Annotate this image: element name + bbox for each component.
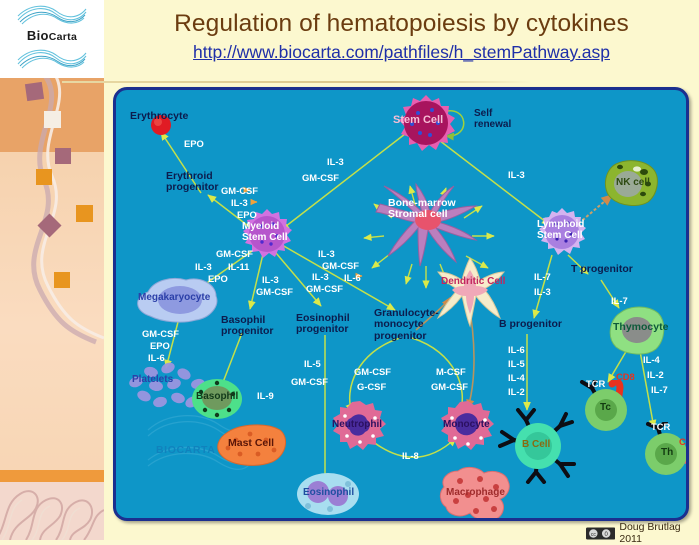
- sidebar-square-5: [76, 205, 93, 222]
- cytokine-gmcsf-monocyte: GM-CSF: [431, 381, 468, 393]
- cytokine-gmcsf-eosinophil: GM-CSF: [306, 283, 343, 295]
- label-th-cell: Th: [661, 448, 673, 459]
- label-erythroid-progenitor: Erythroidprogenitor: [166, 171, 219, 194]
- label-b-cell: B Cell: [522, 440, 550, 451]
- header: Regulation of hematopoiesis by cytokines…: [104, 0, 699, 82]
- logo-text-bio: Bio: [27, 28, 49, 43]
- label-platelets: Platelets: [132, 375, 173, 386]
- label-erythrocyte: Erythrocyte: [130, 111, 188, 122]
- label-self-renewal: Selfrenewal: [474, 109, 511, 131]
- label-eosinophil: Eosinophil: [303, 488, 354, 499]
- cytokine-il6-gmp: IL-6: [344, 272, 361, 284]
- cytokine-il3-megakaryocyte: IL-3: [195, 261, 212, 273]
- cytokine-il8: IL-8: [402, 450, 419, 462]
- cytokine-il3-basophil: IL-3: [262, 274, 279, 286]
- label-basophil-progenitor: Basophilprogenitor: [221, 315, 274, 338]
- label-lymphoid-stem-cell: LymphoidStem Cell: [537, 220, 584, 242]
- sidebar-square-1: [25, 82, 44, 101]
- cytokine-il3-stem-lymphoid: IL-3: [508, 169, 525, 181]
- sidebar-square-7: [54, 272, 70, 288]
- dendritic-cell-icon: [436, 256, 508, 328]
- label-t-progenitor: T progenitor: [571, 264, 633, 275]
- cytokine-il2-bcell: IL-2: [508, 386, 525, 398]
- cytokine-gmcsf-neutrophil: GM-CSF: [354, 366, 391, 378]
- label-nk-cell: NK cell: [616, 178, 650, 189]
- label-thymocyte: Thymocyte: [613, 322, 668, 333]
- label-neutrophil: Neutrophil: [332, 420, 382, 431]
- cytokine-gmcsf-eosinophil-out: GM-CSF: [291, 376, 328, 388]
- cytokine-il5-eosinophil-out: IL-5: [304, 358, 321, 370]
- sidebar-square-4: [36, 169, 52, 185]
- label-eosinophil-progenitor: Eosinophilprogenitor: [296, 313, 350, 336]
- biocarta-wave-top-icon: [16, 4, 88, 26]
- label-granulocyte-monocyte-progenitor: Granulocyte-monocyteprogenitor: [374, 308, 439, 342]
- cytokine-il2-tcell: IL-2: [647, 369, 664, 381]
- label-monocyte: Monocyte: [443, 420, 490, 431]
- cytokine-il3-bprog: IL-3: [534, 286, 551, 298]
- cytokine-il7-bprog: IL-7: [534, 271, 551, 283]
- cytokine-epo-erythroid: EPO: [237, 209, 257, 221]
- page-title: Regulation of hematopoiesis by cytokines: [104, 10, 699, 38]
- source-url-link[interactable]: http://www.biocarta.com/pathfiles/h_stem…: [104, 42, 699, 63]
- cytokine-il6-bcell: IL-6: [508, 344, 525, 356]
- cytokine-il4-tcell: IL-4: [643, 354, 660, 366]
- cytokine-il11-megakaryocyte: IL-11: [228, 261, 249, 273]
- cytokine-gmcsf-platelets: GM-CSF: [142, 328, 179, 340]
- cytokine-gmcsf-stem-myeloid: GM-CSF: [302, 172, 339, 184]
- cytokine-il7-thymocyte: IL-7: [611, 295, 628, 307]
- dendritic-cell-shape: [436, 256, 508, 328]
- cytokine-il4-bcell: IL-4: [508, 372, 525, 384]
- sidebar-band-rule: [0, 470, 104, 482]
- cytokine-il7-tcell: IL-7: [651, 384, 668, 396]
- label-dendritic-cell: Dendritic Cell: [441, 277, 505, 288]
- cytokine-il3-gmp: IL-3: [318, 248, 335, 260]
- sidebar-square-3: [55, 148, 71, 164]
- cytokine-gmcsf-megakaryocyte: GM-CSF: [216, 248, 253, 260]
- cytokine-gmcsf-erythroid: GM-CSF: [221, 185, 258, 197]
- header-divider: [62, 81, 532, 83]
- cytokine-il5-bcell: IL-5: [508, 358, 525, 370]
- biocarta-logo-text: BioCarta: [0, 28, 104, 43]
- cytokine-epo-platelets: EPO: [150, 340, 170, 352]
- sidebar-square-2: [44, 111, 61, 128]
- cytokine-epo-erythrocyte: EPO: [184, 138, 204, 150]
- label-cd4: CD4: [679, 436, 689, 448]
- label-stem-cell: Stem Cell: [393, 115, 443, 127]
- label-mast-cell: Mast Cell: [228, 438, 274, 449]
- label-tc-cell: Tc: [600, 403, 611, 414]
- svg-text:cc: cc: [591, 531, 597, 537]
- sidebar-band-paisley: [0, 482, 104, 540]
- pathway-diagram-panel: BIOCARTA: [113, 87, 689, 521]
- label-b-progenitor: B progenitor: [499, 319, 562, 330]
- label-megakaryocyte: Megakaryocyte: [138, 293, 210, 304]
- credit-text: Doug Brutlag 2011: [619, 521, 699, 545]
- cytokine-il9-mast: IL-9: [257, 390, 274, 402]
- credit-line: cc 0 Doug Brutlag 2011: [586, 521, 699, 545]
- cytokine-il3-eosinophil: IL-3: [312, 271, 329, 283]
- label-macrophage: Macrophage: [446, 488, 505, 499]
- cytokine-il6-platelets: IL-6: [148, 352, 165, 364]
- cytokine-gmcsf-gmp: GM-CSF: [322, 260, 359, 272]
- label-myeloid-stem-cell: MyeloidStem Cell: [242, 222, 288, 244]
- cytokine-epo-megakaryocyte: EPO: [208, 273, 228, 285]
- logo-text-carta: Carta: [49, 31, 77, 43]
- cytokine-il3-stem-myeloid: IL-3: [327, 156, 344, 168]
- label-cd8: CD8: [616, 371, 635, 383]
- cytokine-il3-erythroid: IL-3: [231, 197, 248, 209]
- label-tcr-th: TCR: [651, 421, 670, 433]
- cytokine-mcsf-monocyte: M-CSF: [436, 366, 466, 378]
- label-basophil: Basophil: [196, 392, 238, 403]
- cytokine-gcsf-neutrophil: G-CSF: [357, 381, 386, 393]
- biocarta-logo: BioCarta: [0, 0, 104, 78]
- label-tcr-tc: TCR: [586, 378, 605, 390]
- label-stromal-cell: Bone-marrowStromal cell: [388, 198, 456, 221]
- creative-commons-badge-icon: cc 0: [586, 527, 615, 540]
- slide: BioCarta Regulation of hematopoiesis by …: [0, 0, 699, 540]
- cytokine-gmcsf-basophil: GM-CSF: [256, 286, 293, 298]
- biocarta-wave-bottom-icon: [16, 48, 88, 70]
- paisley-pattern-icon: [0, 482, 104, 540]
